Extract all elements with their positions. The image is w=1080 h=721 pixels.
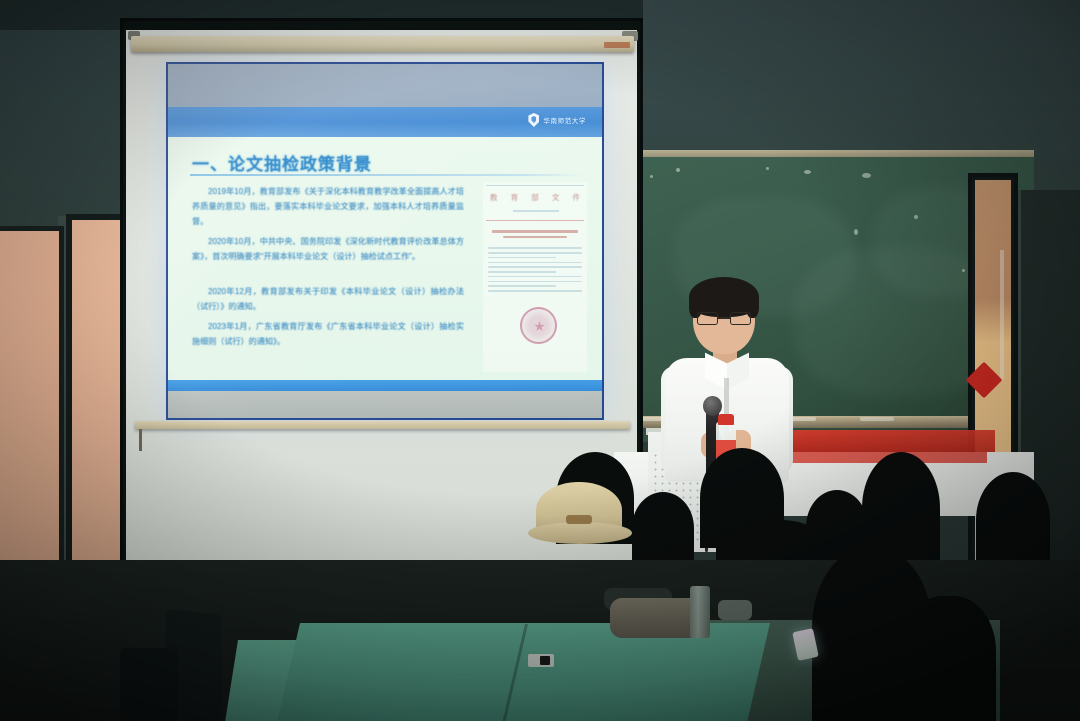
- slide-paragraph: 2023年1月，广东省教育厅发布《广东省本科毕业论文（设计）抽检实施细则（试行）…: [192, 319, 464, 349]
- slide-paragraph: 2019年10月，教育部发布《关于深化本科教育教学改革全面提高人才培养质量的意见…: [192, 184, 464, 229]
- screen-pull-hook: [139, 429, 142, 451]
- document-headline-char: 件: [573, 192, 581, 203]
- lecture-hall-photo: 华南师范大学 一、论文抽检政策背景 2019年10月，教育部发布《关于深化本科教…: [0, 0, 1080, 721]
- slide-footer: [168, 391, 602, 418]
- official-red-seal: [520, 307, 557, 344]
- document-title-lines: [490, 227, 580, 241]
- university-logo: 华南师范大学: [528, 113, 586, 127]
- foreground-person-silhouette: [900, 596, 996, 721]
- microphone-head: [703, 396, 722, 416]
- projected-slide: 华南师范大学 一、论文抽检政策背景 2019年10月，教育部发布《关于深化本科教…: [166, 62, 604, 420]
- document-body-lines: [488, 244, 582, 295]
- door-light-gap: [1000, 250, 1004, 380]
- straw-hat-band: [566, 515, 592, 524]
- water-bottle-cap: [718, 414, 734, 425]
- straw-hat-brim: [528, 522, 632, 544]
- red-banner-strip: [765, 430, 995, 452]
- screen-roller-casing: [131, 36, 634, 52]
- table-misc-item: [718, 600, 752, 620]
- document-headline-char: 部: [531, 192, 539, 203]
- marker-pen-tip: [540, 656, 550, 665]
- slide-bottom-blue-bar: [168, 380, 602, 391]
- slide-paragraph: 2020年10月，中共中央、国务院印发《深化新时代教育评价改革总体方案》，首次明…: [192, 234, 464, 264]
- table-bag: [610, 598, 702, 638]
- slide-paragraph: 2020年12月，教育部发布关于印发《本科毕业论文（设计）抽检办法（试行）》的通…: [192, 284, 464, 314]
- audience-head: [976, 472, 1050, 568]
- audience-head: [632, 492, 694, 564]
- document-headline: 教 育 部 文 件: [490, 192, 580, 203]
- document-headline-char: 育: [511, 192, 519, 203]
- screen-bottom-weight-bar: [135, 421, 630, 429]
- document-red-rule: [486, 220, 584, 221]
- university-name: 华南师范大学: [543, 115, 586, 125]
- slide-top-band: [168, 64, 602, 107]
- document-headline-char: 文: [552, 192, 560, 203]
- wall-above-chalkboard: [643, 0, 1080, 160]
- glasses-icon: [697, 312, 751, 325]
- document-top-rule: [486, 185, 584, 186]
- document-headline-char: 教: [490, 192, 498, 203]
- chair-left-second: [120, 648, 178, 721]
- drink-can: [690, 586, 710, 638]
- screen-brand-logo: [604, 42, 630, 48]
- slide-title: 一、论文抽检政策背景: [192, 150, 372, 175]
- slide-title-underline: [190, 174, 583, 176]
- document-subline: [513, 210, 559, 212]
- university-shield-icon: [528, 113, 539, 127]
